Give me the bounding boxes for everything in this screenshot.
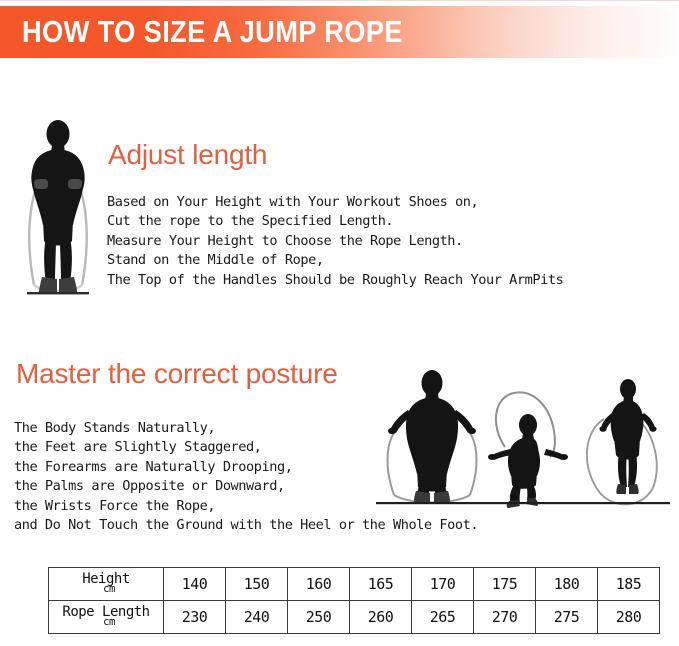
table-cell: 240 xyxy=(226,601,288,634)
table-cell: 230 xyxy=(164,601,226,634)
table-cell: 175 xyxy=(474,568,536,601)
section-body-adjust-length: Based on Your Height with Your Workout S… xyxy=(107,193,563,290)
table-cell: 275 xyxy=(536,601,598,634)
table-cell: 270 xyxy=(474,601,536,634)
row-header-rope-length: Rope Length cm xyxy=(49,601,164,634)
table-cell: 170 xyxy=(412,568,474,601)
infographic-page: HOW TO SIZE A JUMP ROPE xyxy=(0,0,679,646)
row-header-unit: cm xyxy=(57,584,161,595)
table-row: Rope Length cm 230 240 250 260 265 270 2… xyxy=(49,601,660,634)
page-title: HOW TO SIZE A JUMP ROPE xyxy=(22,14,403,50)
body-line: Stand on the Middle of Rope, xyxy=(107,251,563,270)
table-cell: 265 xyxy=(412,601,474,634)
table-row: Height cm 140 150 160 165 170 175 180 18… xyxy=(49,568,660,601)
table-cell: 185 xyxy=(598,568,660,601)
table-cell: 260 xyxy=(350,601,412,634)
header-banner: HOW TO SIZE A JUMP ROPE xyxy=(0,6,679,58)
rope-size-table: Height cm 140 150 160 165 170 175 180 18… xyxy=(48,567,660,634)
body-line: Measure Your Height to Choose the Rope L… xyxy=(107,232,563,251)
body-line: and Do Not Touch the Ground with the Hee… xyxy=(14,516,478,535)
section-heading-master-posture: Master the correct posture xyxy=(16,358,338,390)
table-cell: 180 xyxy=(536,568,598,601)
three-jumping-figures-icon xyxy=(372,369,672,509)
standing-person-holding-rope-icon xyxy=(12,117,104,299)
body-line: Based on Your Height with Your Workout S… xyxy=(107,193,563,212)
table-cell: 140 xyxy=(164,568,226,601)
table-cell: 280 xyxy=(598,601,660,634)
table-cell: 160 xyxy=(288,568,350,601)
table-cell: 250 xyxy=(288,601,350,634)
table-cell: 165 xyxy=(350,568,412,601)
table-cell: 150 xyxy=(226,568,288,601)
section-heading-adjust-length: Adjust length xyxy=(108,139,267,171)
row-header-height: Height cm xyxy=(49,568,164,601)
body-line: Cut the rope to the Specified Length. xyxy=(107,212,563,231)
body-line: The Top of the Handles Should be Roughly… xyxy=(107,271,563,290)
